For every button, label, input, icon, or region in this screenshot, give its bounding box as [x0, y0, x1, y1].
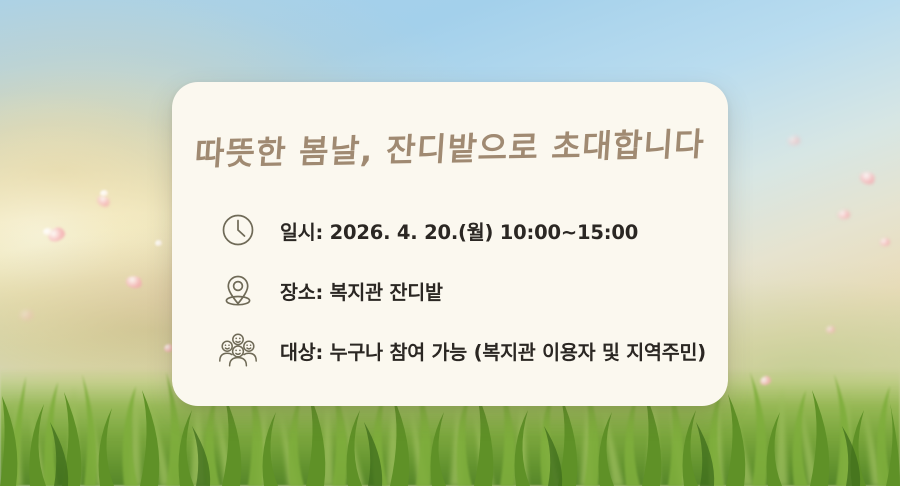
poster-canvas: 따뜻한 봄날, 잔디밭으로 초대합니다 일시: 2026. 4. 20.(월) …: [0, 0, 900, 486]
info-text-place: 장소: 복지관 잔디밭: [280, 276, 443, 305]
petal-13: [826, 326, 835, 333]
petal-10: [880, 238, 890, 246]
map-pin-icon: [216, 268, 260, 312]
clock-icon: [216, 208, 260, 252]
petal-11: [788, 136, 800, 145]
info-row-datetime: 일시: 2026. 4. 20.(월) 10:00~15:00: [216, 200, 710, 260]
petal-14: [155, 240, 162, 246]
petal-5: [100, 190, 108, 196]
people-group-icon: [216, 328, 260, 372]
info-list: 일시: 2026. 4. 20.(월) 10:00~15:00 장소: 복지관 …: [216, 200, 710, 380]
petal-9: [838, 210, 850, 219]
info-text-audience: 대상: 누구나 참여 가능 (복지관 이용자 및 지역주민): [280, 336, 706, 365]
info-text-datetime: 일시: 2026. 4. 20.(월) 10:00~15:00: [280, 216, 638, 245]
info-row-place: 장소: 복지관 잔디밭: [216, 260, 710, 320]
petal-15: [20, 310, 33, 320]
petal-3: [43, 228, 52, 235]
invitation-card: 따뜻한 봄날, 잔디밭으로 초대합니다 일시: 2026. 4. 20.(월) …: [172, 82, 728, 406]
card-title: 따뜻한 봄날, 잔디밭으로 초대합니다: [170, 119, 729, 176]
info-row-audience: 대상: 누구나 참여 가능 (복지관 이용자 및 지역주민): [216, 320, 710, 380]
